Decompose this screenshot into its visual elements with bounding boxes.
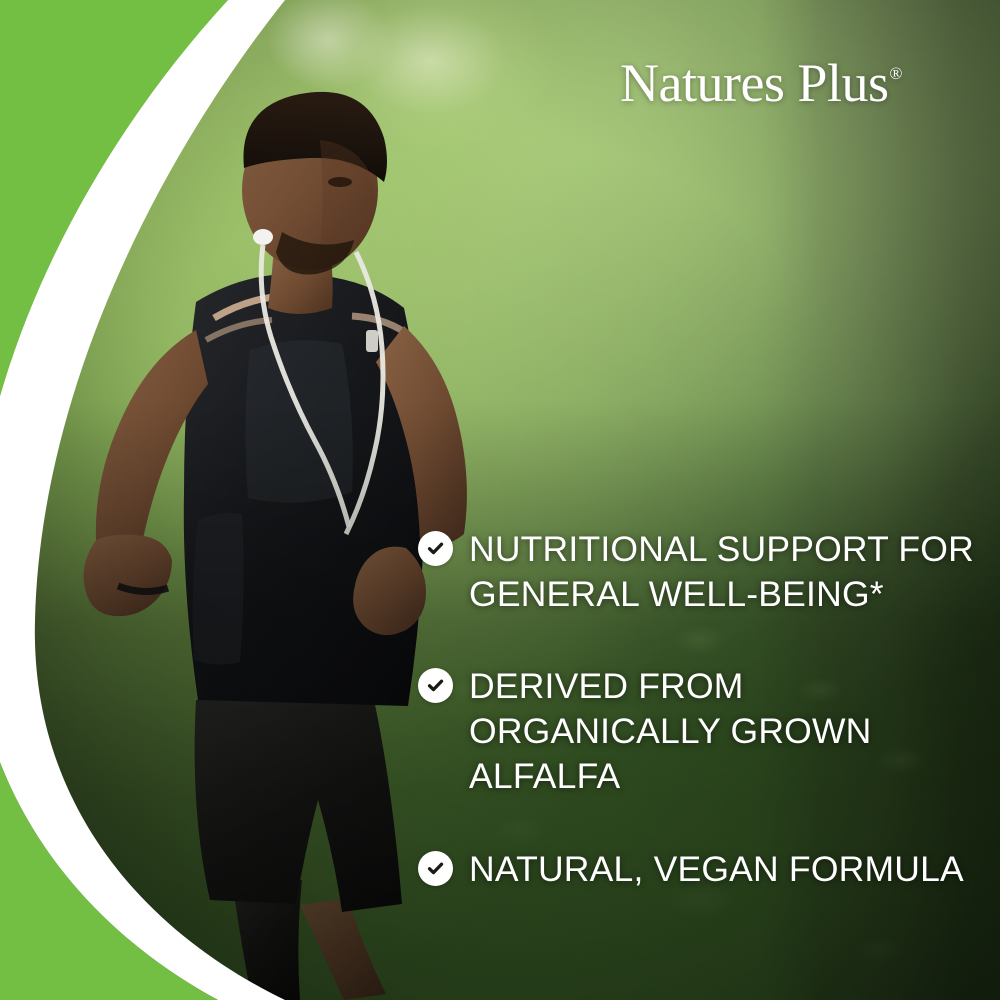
feature-label: DERIVED FROM ORGANICALLY GROWN ALFALFA bbox=[469, 664, 978, 798]
feature-list: NUTRITIONAL SUPPORT FOR GENERAL WELL-BEI… bbox=[418, 527, 978, 891]
brand-logo-text: Natures Plus bbox=[620, 53, 888, 113]
feature-item: NATURAL, VEGAN FORMULA bbox=[418, 847, 978, 892]
feature-label: NUTRITIONAL SUPPORT FOR GENERAL WELL-BEI… bbox=[469, 527, 978, 616]
feature-label: NATURAL, VEGAN FORMULA bbox=[469, 847, 964, 892]
feature-item: NUTRITIONAL SUPPORT FOR GENERAL WELL-BEI… bbox=[418, 527, 978, 616]
check-circle-icon bbox=[418, 668, 453, 703]
feature-item: DERIVED FROM ORGANICALLY GROWN ALFALFA bbox=[418, 664, 978, 798]
check-circle-icon bbox=[418, 851, 453, 886]
registered-trademark-symbol: ® bbox=[889, 64, 902, 83]
brand-logo: Natures Plus® bbox=[620, 52, 902, 114]
check-circle-icon bbox=[418, 531, 453, 566]
product-banner: Natures Plus® NUTRITIONAL SUPPORT FOR GE… bbox=[0, 0, 1000, 1000]
